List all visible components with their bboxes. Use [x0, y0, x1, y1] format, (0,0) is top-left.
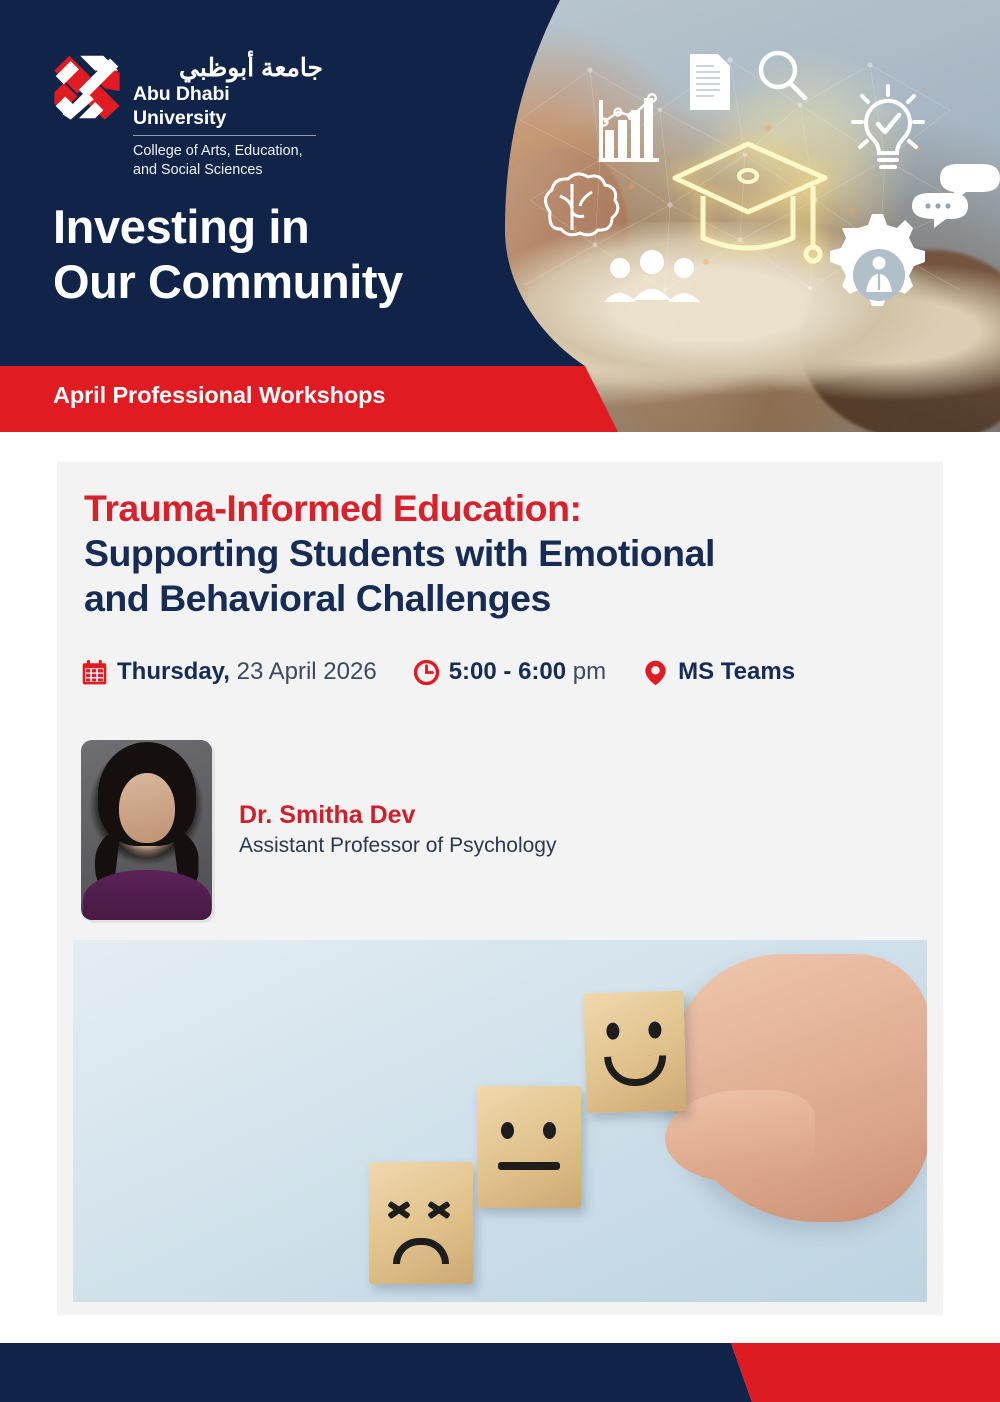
poster-header: جامعة أبوظبي Abu Dhabi University Colleg… [0, 0, 1000, 432]
workshop-title-line-3: and Behavioral Challenges [84, 576, 924, 621]
calendar-icon [81, 659, 108, 686]
people-group-icon [604, 250, 700, 302]
speaker-role: Assistant Professor of Psychology [239, 833, 556, 859]
meta-location: MS Teams [642, 658, 795, 686]
meta-time-text: 5:00 - 6:00 pm [449, 658, 606, 686]
poster-footer [0, 1343, 1000, 1402]
frown-mouth [393, 1238, 449, 1264]
location-pin-icon [642, 659, 669, 686]
logo-english-name: Abu Dhabi University [133, 83, 323, 130]
workshop-card: Trauma-Informed Education: Supporting St… [57, 462, 943, 1315]
eye-right [543, 1122, 556, 1139]
workshop-title: Trauma-Informed Education: Supporting St… [84, 486, 924, 621]
meta-time-period: pm [566, 658, 606, 685]
speaker-torso [83, 870, 211, 920]
flat-mouth [498, 1162, 560, 1170]
campaign-title-line-2: Our Community [53, 255, 403, 310]
brain-icon [545, 174, 617, 235]
logo-college-line-2: and Social Sciences [133, 161, 323, 180]
university-logo: جامعة أبوظبي Abu Dhabi University Colleg… [53, 53, 323, 180]
logo-divider [133, 135, 316, 136]
logo-college-line-1: College of Arts, Education, [133, 142, 323, 161]
clock-icon [413, 659, 440, 686]
campaign-title-line-1: Investing in [53, 200, 403, 255]
neutral-face-block [477, 1086, 581, 1208]
workshop-title-line-2: Supporting Students with Emotional [84, 531, 924, 576]
meta-date-text: Thursday, 23 April 2026 [117, 658, 377, 686]
speech-bubbles-icon [912, 164, 1000, 228]
adu-x-logo-icon [53, 53, 121, 121]
speaker-block: Dr. Smitha Dev Assistant Professor of Ps… [81, 740, 556, 920]
meta-location-text: MS Teams [678, 658, 795, 686]
workshop-title-lead: Trauma-Informed Education: [84, 486, 924, 531]
speaker-face [119, 773, 175, 843]
eye-left [606, 1022, 619, 1039]
x-eye-left [385, 1196, 411, 1222]
check-mark [878, 115, 899, 132]
bar-chart-icon [599, 98, 659, 162]
sad-face-block [369, 1162, 473, 1284]
happy-face-block [583, 991, 686, 1114]
graduation-cap-icon [675, 144, 825, 248]
trend-line [604, 100, 650, 122]
campaign-title: Investing in Our Community [53, 200, 403, 310]
smile-mouth [604, 1055, 667, 1087]
logo-arabic-name: جامعة أبوظبي [133, 55, 323, 81]
hand-placing-block [669, 954, 927, 1222]
series-banner-label: April Professional Workshops [53, 382, 385, 409]
eye-right [648, 1021, 661, 1038]
meta-date: Thursday, 23 April 2026 [81, 658, 377, 686]
hand-thumb [665, 1090, 815, 1182]
meta-date-value: 23 April 2026 [230, 658, 377, 685]
feature-image [73, 940, 927, 1302]
magnifier-icon [761, 53, 805, 98]
series-banner: April Professional Workshops [0, 366, 1000, 432]
x-eye-right [425, 1196, 451, 1222]
speaker-headshot [81, 740, 212, 920]
meta-location-value: MS Teams [678, 658, 795, 685]
meta-time: 5:00 - 6:00 pm [413, 658, 606, 686]
speaker-name: Dr. Smitha Dev [239, 800, 556, 830]
workshop-meta: Thursday, 23 April 2026 5:00 - 6:00 pm M… [81, 658, 795, 686]
meta-date-day: Thursday, [117, 658, 230, 685]
document-icon [690, 54, 730, 110]
eye-left [501, 1122, 514, 1139]
meta-time-range: 5:00 - 6:00 [449, 658, 566, 685]
